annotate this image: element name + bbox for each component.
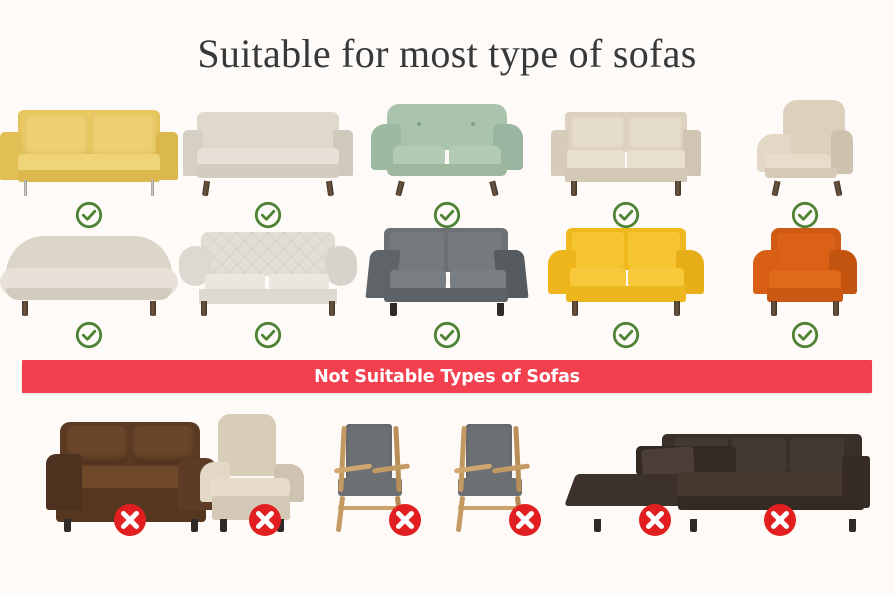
- sofa-illustration-beige-loveseat: [536, 101, 715, 196]
- cross-circle-icon: [388, 503, 422, 537]
- sofa-cell-beige-armchair: [715, 95, 894, 230]
- check-circle-icon: [790, 320, 820, 350]
- sofa-illustration-yellow-modern-sofa: [0, 101, 179, 196]
- sofa-illustration-orange-armchair: [715, 224, 894, 316]
- not-suitable-banner-label: Not Suitable Types of Sofas: [314, 367, 580, 387]
- sofa-illustration-gray-loveseat: [358, 224, 537, 316]
- cross-circle-icon: [113, 503, 147, 537]
- sofa-cell-cream-single-cushion-sofa: [179, 95, 358, 230]
- cross-circle-icon: [508, 503, 542, 537]
- suitable-row-1: [0, 95, 894, 230]
- sofa-illustration-yellow-rolled-arm-loveseat: [536, 224, 715, 316]
- sofa-illustration-dark-brown-sectional-sofa: [570, 420, 870, 532]
- sofa-cell-cream-curved-sofa: [0, 215, 179, 350]
- check-circle-icon: [611, 320, 641, 350]
- cross-circle-icon: [763, 503, 797, 537]
- not-suitable-row: [0, 400, 894, 560]
- check-circle-icon: [611, 200, 641, 230]
- suitable-row-2: [0, 215, 894, 350]
- sofa-cell-beige-loveseat: [536, 95, 715, 230]
- sofa-cell-yellow-rolled-arm-loveseat: [536, 215, 715, 350]
- cross-circle-icon: [248, 503, 282, 537]
- sofa-illustration-sage-green-tufted-loveseat: [358, 101, 537, 196]
- infographic-page: Suitable for most type of sofas: [0, 0, 894, 596]
- check-circle-icon: [432, 320, 462, 350]
- page-title: Suitable for most type of sofas: [0, 30, 894, 77]
- sofa-cell-gray-loveseat: [358, 215, 537, 350]
- sofa-cell-white-chesterfield-sofa: [179, 215, 358, 350]
- sofa-illustration-cream-curved-sofa: [0, 224, 179, 316]
- check-circle-icon: [74, 200, 104, 230]
- check-circle-icon: [790, 200, 820, 230]
- sofa-illustration-beige-armchair: [715, 101, 894, 196]
- check-circle-icon: [253, 200, 283, 230]
- sofa-cell-yellow-modern-sofa: [0, 95, 179, 230]
- sofa-cell-sage-green-tufted-loveseat: [358, 95, 537, 230]
- sofa-illustration-white-chesterfield-sofa: [179, 224, 358, 316]
- sofa-illustration-cream-single-cushion-sofa: [179, 101, 358, 196]
- sofa-cell-orange-armchair: [715, 215, 894, 350]
- check-circle-icon: [74, 320, 104, 350]
- check-circle-icon: [432, 200, 462, 230]
- cross-circle-icon: [638, 503, 672, 537]
- not-suitable-banner: Not Suitable Types of Sofas: [22, 360, 872, 393]
- check-circle-icon: [253, 320, 283, 350]
